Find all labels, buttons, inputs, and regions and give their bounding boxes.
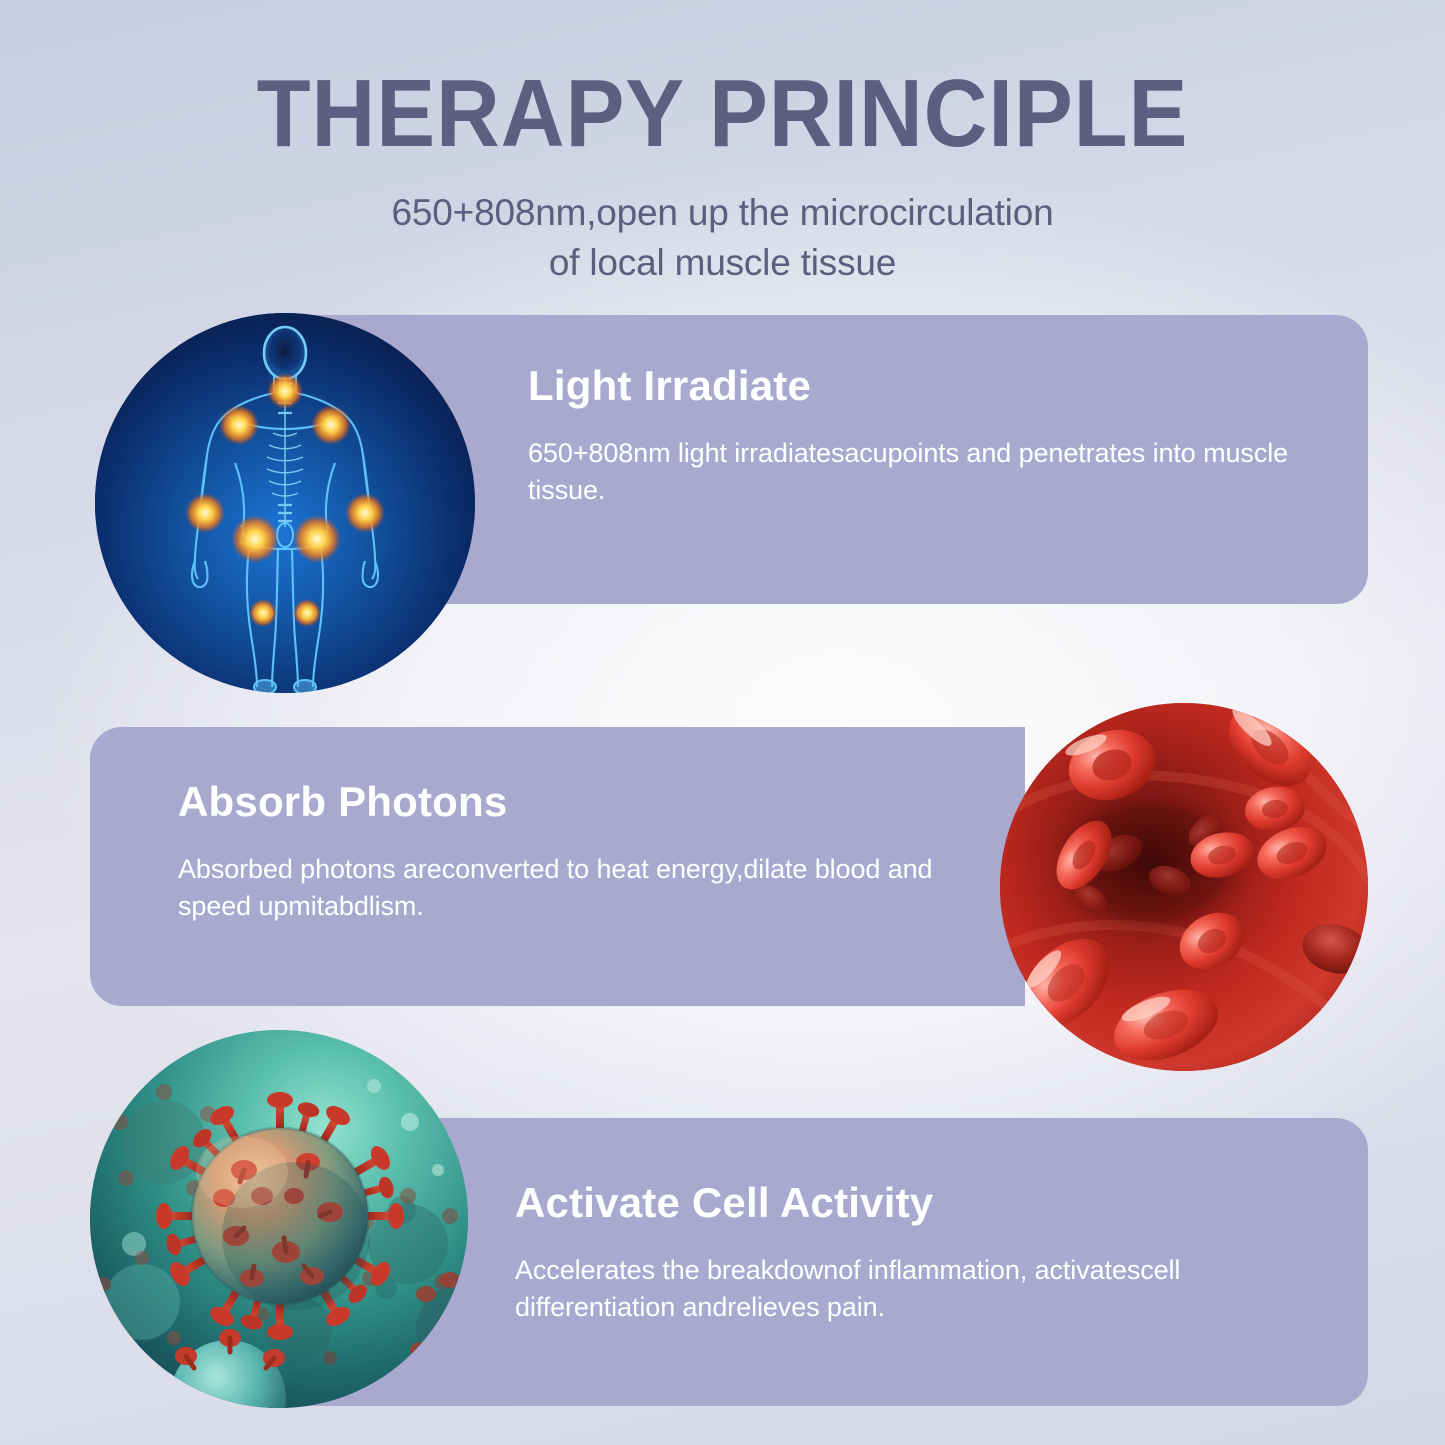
virus-illustration [90, 1030, 468, 1408]
step-3-body: Accelerates the breakdownof inflammation… [515, 1226, 1308, 1327]
virus-cell-particles-image [90, 1030, 468, 1408]
subtitle-line-1: 650+808nm,open up the microcirculation [0, 188, 1445, 238]
step-card-absorb-photons: Absorb Photons Absorbed photons areconve… [90, 727, 1025, 1006]
step-2-body: Absorbed photons areconverted to heat en… [178, 825, 948, 926]
subtitle-line-2: of local muscle tissue [0, 238, 1445, 288]
step-3-heading: Activate Cell Activity [515, 1180, 1308, 1226]
step-2-heading: Absorb Photons [178, 779, 965, 825]
step-1-heading: Light Irradiate [528, 363, 1308, 409]
step-1-body: 650+808nm light irradiatesacupoints and … [528, 409, 1308, 510]
therapy-principle-infographic: THERAPY PRINCIPLE 650+808nm,open up the … [0, 0, 1445, 1445]
blood-cells-illustration [1000, 703, 1368, 1071]
human-body-illustration [95, 313, 475, 693]
human-body-anatomy-pain-points-image [95, 313, 475, 693]
header: THERAPY PRINCIPLE 650+808nm,open up the … [0, 0, 1445, 289]
page-title: THERAPY PRINCIPLE [58, 0, 1387, 162]
page-subtitle: 650+808nm,open up the microcirculation o… [0, 162, 1445, 289]
red-blood-cells-in-vessel-image [1000, 703, 1368, 1071]
